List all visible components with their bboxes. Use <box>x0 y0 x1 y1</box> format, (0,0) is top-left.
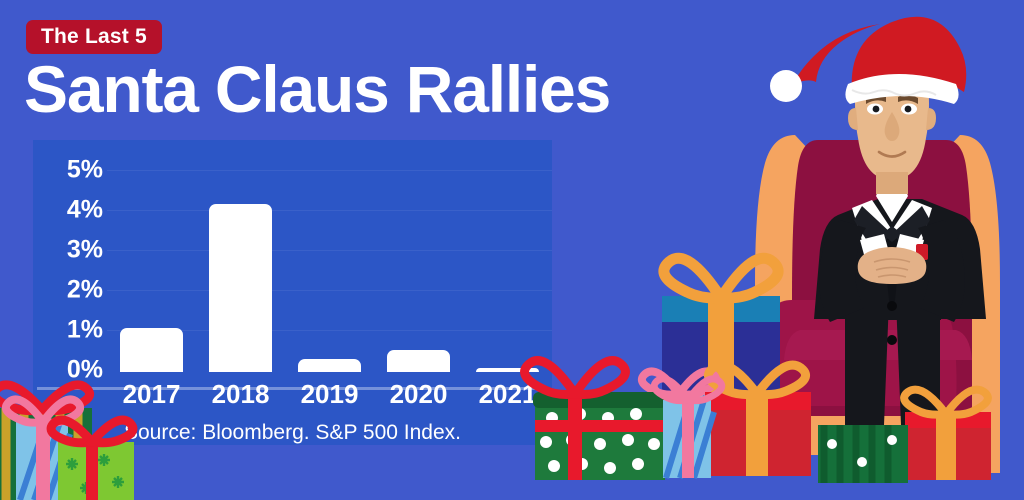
bar-2020 <box>387 350 449 372</box>
bar-2019 <box>298 359 360 372</box>
santa-hat-icon <box>770 17 966 104</box>
bar-2021 <box>476 368 538 372</box>
y-tick-label: 1% <box>41 316 103 345</box>
source-note: Source: Bloomberg. S&P 500 Index. <box>124 421 461 445</box>
chart-panel: 5% 4% 3% 2% 1% 0% 20172018201920202021 <box>33 140 552 445</box>
infographic-canvas: The Last 5 Santa Claus Rallies 5% 4% 3% … <box>0 0 1024 500</box>
gift-red-green-icon <box>904 390 991 480</box>
x-axis: 20172018201920202021 <box>107 378 559 410</box>
eyebrow-badge: The Last 5 <box>26 20 162 54</box>
gift-navy-orange-bow-icon <box>662 258 780 450</box>
gift-blue-stripe-center-icon <box>654 379 722 478</box>
armchair-body-icon <box>760 140 973 416</box>
x-tick-label: 2020 <box>374 379 463 410</box>
page-title: Santa Claus Rallies <box>24 55 610 124</box>
x-tick-label: 2019 <box>285 379 374 410</box>
bar-2017 <box>120 328 182 372</box>
x-tick-label: 2018 <box>196 379 285 410</box>
bar-series <box>107 140 552 372</box>
y-tick-label: 2% <box>41 276 103 305</box>
y-axis: 5% 4% 3% 2% 1% 0% <box>33 140 103 445</box>
gift-blue-stripe-pink-bow-icon <box>642 372 716 467</box>
x-tick-label: 2017 <box>107 379 196 410</box>
y-tick-label: 3% <box>41 236 103 265</box>
armchair-frame-icon <box>755 135 1000 473</box>
gift-red-orange-bow-icon <box>705 365 811 476</box>
head-icon <box>848 60 936 194</box>
y-tick-label: 4% <box>41 196 103 225</box>
bar-2018 <box>209 204 271 372</box>
x-tick-label: 2021 <box>463 379 552 410</box>
gift-darkgreen-right-icon <box>818 425 908 483</box>
y-tick-label: 0% <box>41 356 103 385</box>
suit-icon <box>814 186 986 345</box>
y-tick-label: 5% <box>41 156 103 185</box>
arms-icon <box>819 220 965 322</box>
trousers-icon <box>845 290 941 450</box>
